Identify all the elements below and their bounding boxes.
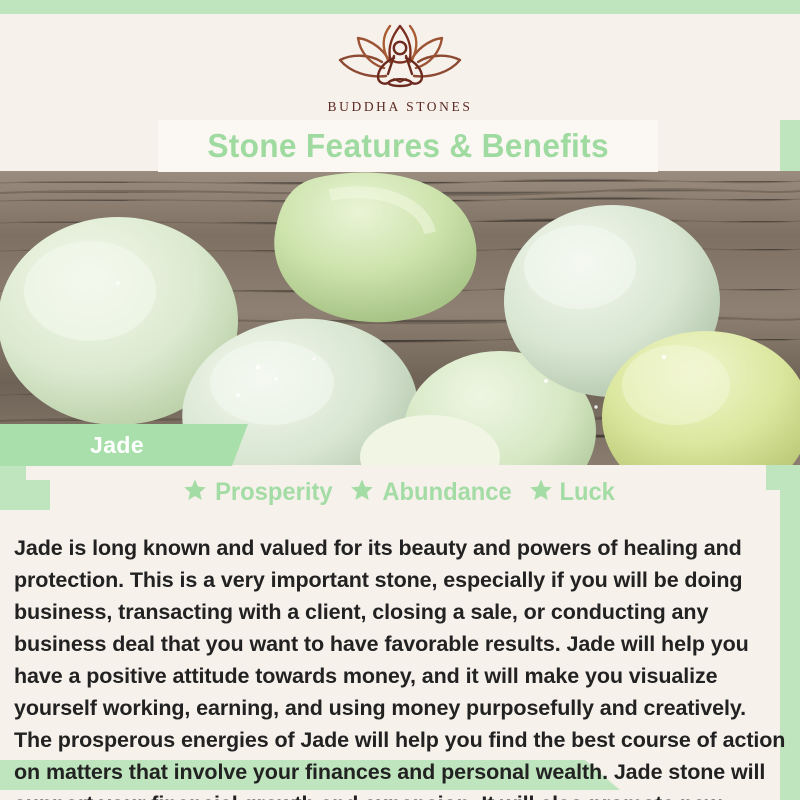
benefit-label: Prosperity	[216, 478, 333, 507]
stone-info-poster: BUDDHA STONES	[0, 0, 800, 800]
brand-header: BUDDHA STONES	[0, 14, 800, 120]
star-icon	[183, 478, 207, 507]
top-green-band	[0, 0, 800, 14]
stone-name-label: Jade	[90, 432, 144, 459]
lotus-meditation-icon	[324, 20, 476, 97]
benefits-row: Prosperity Abundance Luck	[0, 476, 800, 508]
stone-name-bar: Jade	[0, 424, 248, 466]
benefit-item: Luck	[529, 478, 616, 507]
benefit-label: Luck	[560, 478, 615, 507]
page-title: Stone Features & Benefits	[207, 127, 609, 165]
benefit-item: Abundance	[350, 478, 515, 507]
benefit-item: Prosperity	[183, 478, 336, 507]
title-banner: Stone Features & Benefits	[158, 120, 658, 172]
stone-description: Jade is long known and valued for its be…	[14, 532, 788, 800]
star-icon	[350, 478, 374, 507]
stone-photo	[0, 171, 800, 465]
brand-logo: BUDDHA STONES	[324, 20, 476, 115]
star-icon	[529, 478, 553, 507]
brand-name: BUDDHA STONES	[328, 99, 473, 115]
benefit-label: Abundance	[382, 478, 511, 507]
